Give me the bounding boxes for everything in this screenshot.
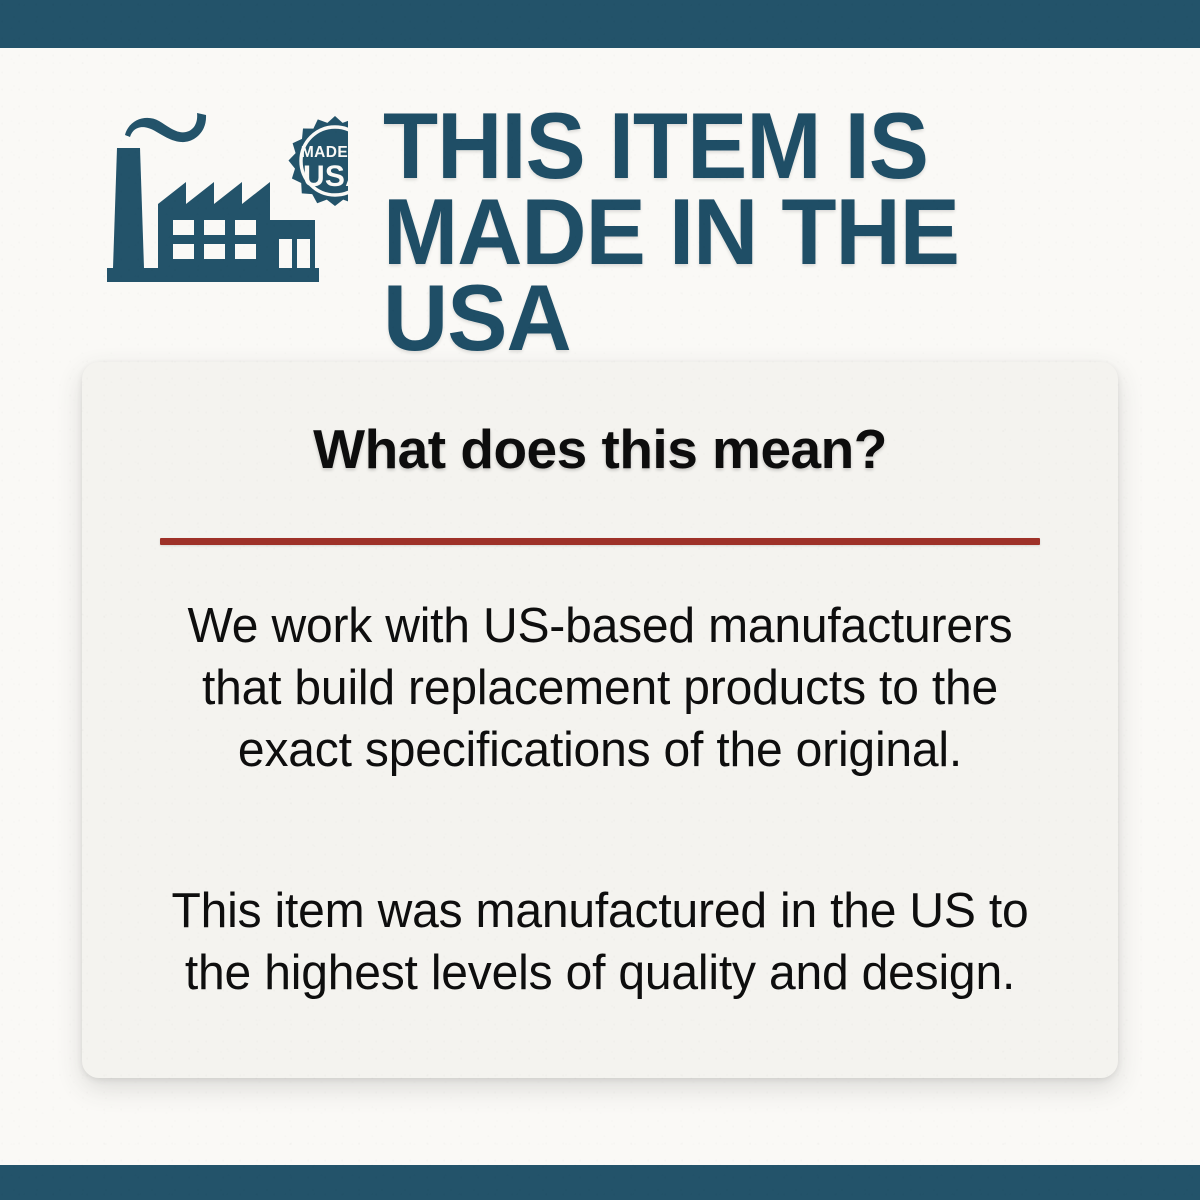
title-divider — [160, 538, 1040, 545]
factory-icon: MADE IN USA — [103, 108, 348, 286]
bottom-accent-bar — [0, 1165, 1200, 1200]
made-in-usa-logo: MADE IN USA — [103, 108, 348, 286]
badge-usa-text: USA — [303, 160, 348, 193]
explanation-card: What does this mean? We work with US-bas… — [82, 362, 1118, 1078]
badge-made-in-text: MADE IN — [301, 144, 348, 161]
card-inner: What does this mean? We work with US-bas… — [82, 362, 1118, 1078]
top-accent-bar — [0, 0, 1200, 48]
card-paragraph-2: This item was manufactured in the US to … — [169, 880, 1031, 1004]
page-root: MADE IN USA THIS ITEM IS MADE IN THE USA… — [0, 0, 1200, 1200]
card-paragraph-1: We work with US-based manufacturers that… — [169, 595, 1031, 781]
header-banner: MADE IN USA THIS ITEM IS MADE IN THE USA — [0, 48, 1200, 303]
card-title: What does this mean? — [82, 419, 1118, 479]
page-headline: THIS ITEM IS MADE IN THE USA — [383, 103, 1141, 361]
